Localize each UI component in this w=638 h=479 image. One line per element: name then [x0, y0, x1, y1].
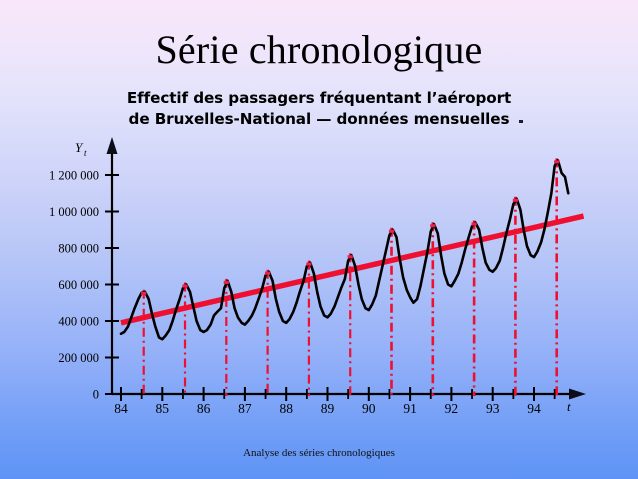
x-tick-label: 87 [238, 401, 252, 416]
slide-footer: Analyse des séries chronologiques [0, 447, 638, 459]
y-tick-label: 400 000 [58, 315, 99, 329]
y-tick-label: 800 000 [58, 242, 99, 256]
x-tick-label: 93 [486, 401, 500, 416]
x-tick-label: 89 [321, 401, 335, 416]
y-tick-label: 600 000 [58, 278, 99, 292]
y-tick-label: 1 000 000 [49, 205, 99, 219]
y-axis-label-text: Y [75, 140, 84, 155]
x-tick-label: 88 [279, 401, 293, 416]
y-axis-label: Y t [75, 140, 87, 158]
series-line-passengers [121, 160, 568, 339]
x-axis-label-text: t [567, 399, 571, 414]
x-tick-label: 90 [362, 401, 376, 416]
y-tick-label: 0 [93, 388, 99, 402]
trend-line [121, 216, 584, 323]
y-axis-tick-labels: 0200 000400 000600 000800 0001 000 0001 … [49, 169, 99, 402]
slide-canvas: Série chronologique Effectif des passage… [0, 0, 638, 479]
time-series-chart: 0200 000400 000600 000800 0001 000 0001 … [0, 0, 638, 479]
x-tick-label: 84 [114, 401, 128, 416]
y-axis-label-subscript: t [84, 148, 87, 158]
y-tick-label: 200 000 [58, 351, 99, 365]
x-axis-tick-labels: 8485868788899091929394 [114, 401, 541, 416]
seasonal-peak-guides [144, 158, 557, 396]
y-tick-label: 1 200 000 [49, 169, 99, 183]
x-tick-label: 92 [445, 401, 459, 416]
x-tick-label: 86 [197, 401, 211, 416]
x-tick-label: 91 [403, 401, 417, 416]
x-tick-label: 85 [156, 401, 170, 416]
x-tick-label: 94 [527, 401, 541, 416]
